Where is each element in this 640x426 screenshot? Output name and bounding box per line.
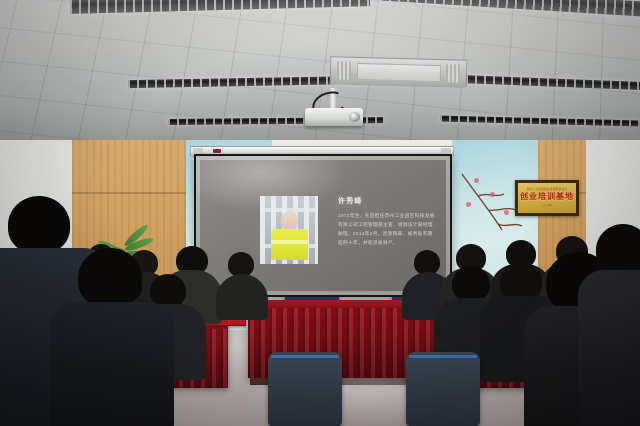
- audience-head: [452, 266, 490, 302]
- panel-seam: [72, 192, 190, 194]
- person-head: [281, 211, 298, 231]
- slide-text-block: 许秀峰 1972年生，先后担任苏州工业园区科技发展有限公司工程管理部主管、规划设…: [338, 196, 436, 247]
- chair-trim: [271, 355, 339, 358]
- plaque-main-text: 创业培训基地: [520, 193, 574, 201]
- audience-head: [78, 248, 142, 308]
- slide-subject-name: 许秀峰: [338, 196, 436, 206]
- blossom-icon: [490, 192, 495, 197]
- blossom-icon: [474, 178, 479, 183]
- slide-body-text: 1972年生，先后担任苏州工业园区科技发展有限公司工程管理部主管、规划设计部经理…: [338, 211, 436, 247]
- audience-body: [578, 270, 640, 426]
- ceiling: [0, 0, 640, 150]
- chair-trim: [409, 355, 477, 358]
- projector-lens-icon: [349, 112, 360, 122]
- screen-control-button[interactable]: [213, 149, 221, 153]
- ceiling-shading: [0, 0, 640, 150]
- audience-chair: [268, 352, 342, 426]
- conference-room-photo: 国家人力资源和社会保障部认定 创业培训基地 二〇一四年 许秀峰 1972年生，先…: [0, 0, 640, 426]
- audience-head: [8, 196, 70, 254]
- plaque-header-text: 国家人力资源和社会保障部认定: [527, 189, 568, 192]
- yellow-vest: [271, 229, 308, 260]
- blossom-icon: [466, 202, 471, 207]
- audience-chair: [406, 352, 480, 426]
- audience-body: [50, 302, 174, 426]
- blossom-icon: [504, 210, 509, 215]
- audience-head: [596, 224, 640, 276]
- audience-body: [216, 274, 268, 320]
- wall-plaque: 国家人力资源和社会保障部认定 创业培训基地 二〇一四年: [515, 180, 579, 216]
- vest-reflective-strip: [271, 240, 308, 244]
- slide-photo: [260, 196, 318, 264]
- plaque-footer-text: 二〇一四年: [542, 203, 553, 207]
